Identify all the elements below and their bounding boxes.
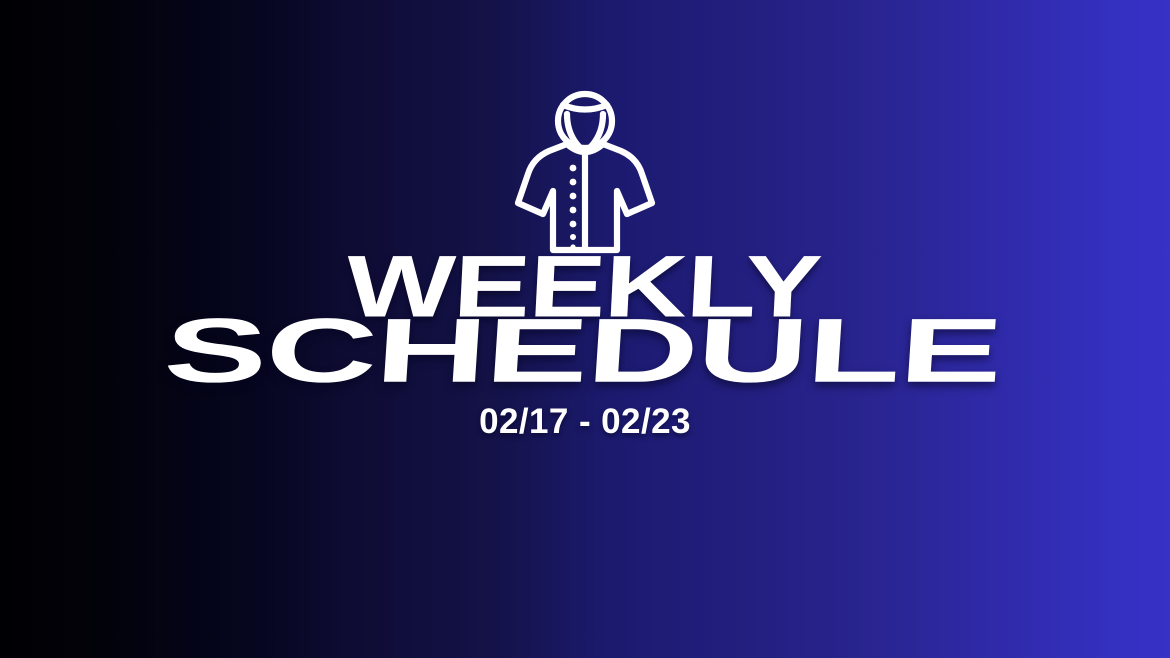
title-line-schedule: SCHEDULE — [0, 315, 1170, 388]
coat-button — [570, 193, 577, 200]
raincoat-icon — [515, 88, 655, 256]
coat-button — [570, 165, 577, 172]
hood-crown-seam — [563, 105, 607, 110]
content-column: WEEKLY SCHEDULE 02/17 - 02/23 — [0, 0, 1170, 658]
weekly-schedule-graphic: WEEKLY SCHEDULE 02/17 - 02/23 — [0, 0, 1170, 658]
coat-button — [570, 179, 577, 186]
date-range-label: 02/17 - 02/23 — [0, 402, 1170, 442]
title-block: WEEKLY SCHEDULE — [0, 252, 1170, 384]
raincoat-icon-svg — [515, 88, 655, 256]
coat-button — [570, 207, 577, 214]
coat-button — [570, 221, 577, 228]
